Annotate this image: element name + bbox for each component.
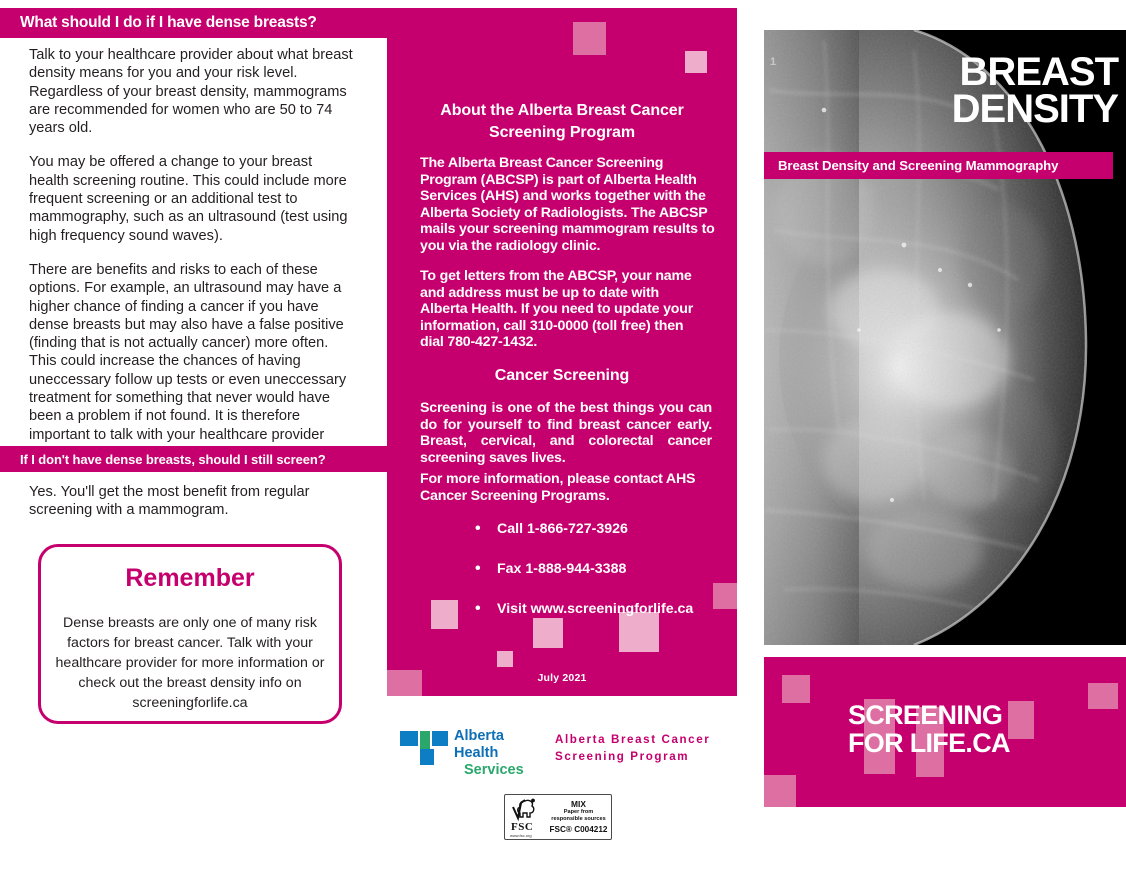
cover-title-line-1: BREAST [952,54,1118,91]
section-header-still-screen: If I don't have dense breasts, should I … [0,446,387,472]
cancer-screening-paragraph-1: Screening is one of the best things you … [420,400,712,466]
section-header-still-screen-label: If I don't have dense breasts, should I … [20,452,326,467]
cover-title: BREAST DENSITY [952,54,1118,128]
contact-list: Call 1-866-727-3926 Fax 1-888-944-3388 V… [475,521,725,641]
remember-callout-box: Remember Dense breasts are only one of m… [38,544,342,724]
brochure-page: What should I do if I have dense breasts… [0,0,1126,870]
screening-for-life-banner: SCREENING FOR LIFE.CA [764,657,1126,807]
right-panel: 1 BREAST DENSITY Breast Density and Scre… [764,10,1126,870]
cover-title-line-2: DENSITY [952,91,1118,128]
alberta-health-services-logo: Alberta Health Services [400,727,548,771]
fsc-code: FSC® C004212 [549,826,608,834]
remember-title: Remember [125,563,254,593]
remember-text: Dense breasts are only one of many risk … [54,613,326,713]
decorative-square [1008,701,1034,739]
list-item: Fax 1-888-944-3388 [475,561,725,577]
section-header-dense-breasts: What should I do if I have dense breasts… [0,8,387,38]
about-program-title: About the Alberta Breast Cancer Screenin… [387,100,737,144]
ahs-cross-mark-icon [400,731,448,767]
fsc-sub-line-2: responsible sources [549,816,608,824]
dense-paragraph-1: Talk to your healthcare provider about w… [29,46,355,137]
abcsp-wordmark-line-2: Screening Program [555,748,733,765]
page-number: 1 [770,56,776,68]
logo-row: Alberta Health Services Alberta Breast C… [387,722,737,776]
fsc-mix-label: MIX [549,801,608,809]
fsc-mark: FSC www.fsc.org [505,795,549,839]
about-program-paragraph-1: The Alberta Breast Cancer Screening Prog… [420,155,715,255]
left-panel: What should I do if I have dense breasts… [0,0,387,870]
cover-image: 1 BREAST DENSITY Breast Density and Scre… [764,30,1126,645]
decorative-square [782,675,810,703]
about-program-paragraph-2: To get letters from the ABCSP, your name… [420,268,708,351]
middle-panel: About the Alberta Breast Cancer Screenin… [387,8,737,696]
ahs-logo-line-1: Alberta Health [454,728,548,762]
list-item: Call 1-866-727-3926 [475,521,725,537]
publication-date: July 2021 [387,672,737,684]
decorative-square [1088,683,1118,709]
still-screen-paragraph: Yes. You'll get the most benefit from re… [29,483,349,520]
banner-line-2: FOR LIFE.CA [848,729,1010,757]
dense-breasts-body: Talk to your healthcare provider about w… [29,46,355,462]
fsc-tree-checkmark-icon [512,798,542,822]
dense-paragraph-2: You may be offered a change to your brea… [29,153,355,244]
abcsp-wordmark-line-1: Alberta Breast Cancer [555,731,733,748]
fsc-url-text: www.fsc.org [510,833,532,838]
banner-line-1: SCREENING [848,701,1010,729]
fsc-brand-text: FSC [511,821,533,833]
list-item[interactable]: Visit www.screeningforlife.ca [475,601,725,617]
screening-for-life-wordmark: SCREENING FOR LIFE.CA [848,701,1010,757]
decorative-square [764,775,796,807]
cancer-screening-title: Cancer Screening [387,365,737,387]
section-header-dense-breasts-label: What should I do if I have dense breasts… [20,14,317,32]
ahs-logo-line-2: Services [454,762,548,779]
cancer-screening-paragraph-2: For more information, please contact AHS… [420,471,710,504]
cover-subtitle-label: Breast Density and Screening Mammography [778,158,1058,173]
still-screen-body: Yes. You'll get the most benefit from re… [29,483,349,520]
fsc-certification-badge: FSC www.fsc.org MIX Paper from responsib… [504,794,612,840]
fsc-sub-line-1: Paper from [549,809,608,817]
abcsp-wordmark: Alberta Breast Cancer Screening Program [555,731,733,765]
dense-paragraph-3: There are benefits and risks to each of … [29,261,355,462]
cover-subtitle: Breast Density and Screening Mammography [764,152,1113,179]
